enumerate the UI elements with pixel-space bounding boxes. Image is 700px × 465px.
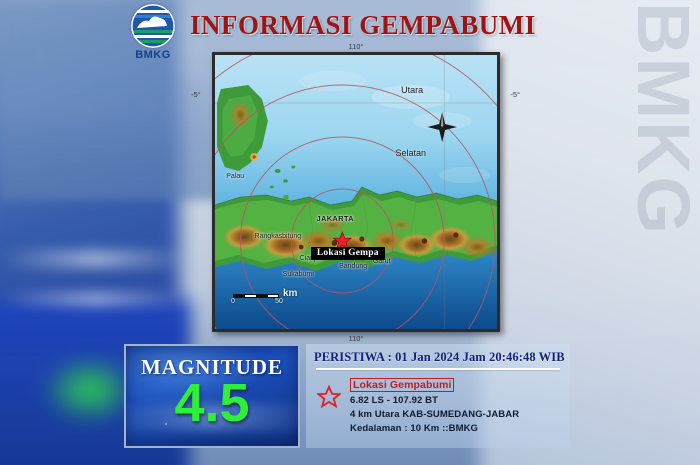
compass-north-label: Utara [401,85,423,95]
epicenter-label: Lokasi Gempa [311,247,385,260]
epicenter-star-icon [314,375,344,414]
magnitude-value: 4.5 [126,376,298,430]
map-coord-top: 110° [349,42,364,51]
background-streak [0,250,190,268]
map-scale-bar: km 0 50 [233,294,279,307]
scale-bar-unit: km [283,288,297,299]
map-container: 110° 110° -5° -5° [212,52,500,332]
bmkg-watermark: BMKG [628,2,698,236]
info-divider [316,368,560,370]
map-coord-right: -5° [510,90,520,99]
event-datetime: PERISTIWA : 01 Jan 2024 Jam 20:46:48 WIB [314,350,562,365]
event-details: Lokasi Gempabumi 6.82 LS - 107.92 BT 4 k… [350,375,562,435]
map-coord-left: -5° [191,90,201,99]
scale-bar-ticks: 0 50 [233,298,279,307]
event-info-panel: PERISTIWA : 01 Jan 2024 Jam 20:46:48 WIB… [306,344,570,448]
background-streak [0,292,190,306]
map-canvas [215,55,497,329]
location-title: Lokasi Gempabumi [350,378,454,392]
event-coordinates: 6.82 LS - 107.92 BT [350,394,562,408]
page-title: INFORMASI GEMPABUMI [190,10,530,41]
bmkg-logo: BMKG [126,4,180,61]
scale-tick-min: 0 [231,298,235,305]
event-depth: Kedalaman : 10 Km ::BMKG [350,422,562,436]
bmkg-logo-label: BMKG [126,49,180,61]
scale-tick-max: 50 [275,298,283,305]
event-region: 4 km Utara KAB-SUMEDANG-JABAR [350,408,562,422]
magnitude-panel: MAGNITUDE 4.5 [124,344,300,448]
bmkg-logo-icon [131,4,175,48]
map-frame[interactable]: JAKARTARangkasbitungCianjurSukabumiBandu… [212,52,500,332]
compass-south-label: Selatan [395,148,426,158]
earthquake-info-graphic: BMKG BMKG INFORMASI GEMPABUMI 110° 110° … [0,0,700,465]
map-coord-bottom: 110° [349,334,364,343]
